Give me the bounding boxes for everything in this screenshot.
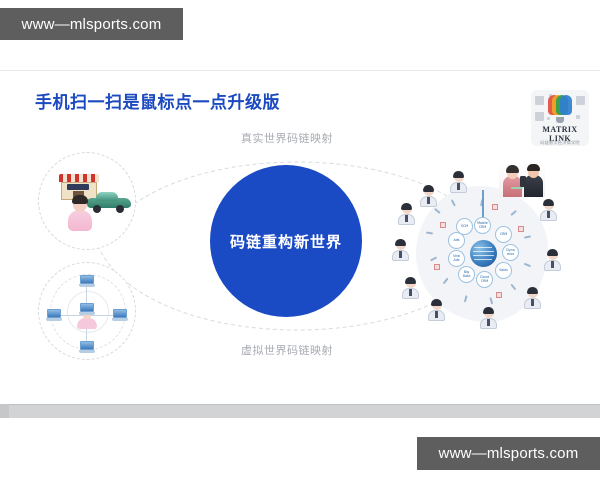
laptop-screen [47,309,61,318]
node-real-world [38,152,136,250]
qr-block-icon [535,96,544,105]
person-body [77,318,97,329]
avatar [480,308,497,329]
person-body [68,210,92,231]
laptop-node-icon [46,309,62,321]
avatar-hair [483,307,494,314]
laptop-node-icon [112,309,128,321]
scan-beam-icon [511,187,523,189]
watermark-top: www—mlsports.com [0,8,183,40]
hub-node: CloudCRM [476,271,493,288]
qr-code-marker-icon [496,292,502,298]
avatar-hair [401,203,412,210]
qr-code-marker-icon [434,264,440,270]
scanning-person-photo [499,163,545,197]
avatar-hair [395,239,406,246]
laptop-node-icon [79,275,95,287]
shop-sign [67,184,89,190]
laptop-screen [80,341,94,350]
hub-node: MobileCRM [474,217,491,234]
slide-top-divider [0,70,600,71]
node-virtual-world [38,262,136,360]
core-circle-label: 码链重构新世界 [230,231,342,252]
avatar-tie [435,311,438,318]
laptop-base [46,318,62,321]
car-wheel [93,205,101,213]
smartphone-icon [520,176,526,187]
hub-node: SCM [456,218,473,235]
label-virtual-world-mapping: 虚拟世界码链映射 [241,342,333,358]
avatar [428,300,445,321]
avatar-hair [527,287,538,294]
avatar-hair [547,249,558,256]
avatar-hair [405,277,416,284]
label-real-world-mapping: 真实世界码链映射 [241,130,333,146]
avatar-tie [547,211,550,218]
avatar [544,250,561,271]
hub-node: Dynamics [502,244,519,261]
hub-node: ViralAds [448,250,465,267]
avatar-tie [405,215,408,222]
laptop-node-icon [79,341,95,353]
avatar-hair [543,199,554,206]
page-title: 手机扫一扫是鼠标点一点升级版 [35,88,280,113]
avatar-tie [551,261,554,268]
brand-subtitle: 码链数字经济商学院 [531,140,589,146]
person-icon [67,197,93,231]
bulb-segment [560,95,572,115]
avatar-tie [487,319,490,326]
slide-bottom-bar-nub [0,404,9,418]
person-hair [506,165,519,173]
lightbulb-icon [548,95,572,123]
laptop-screen [113,309,127,318]
node-digital-network-cluster: MobileCRM CRM Dynamics Sales CloudCRM Bi… [404,180,554,330]
hub-node: BigData [458,266,475,283]
laptop-screen [80,275,94,284]
globe-icon [470,240,497,267]
person-hair [72,195,88,204]
laptop-base [79,312,95,315]
car-wheel [116,205,124,213]
avatar-tie [457,183,460,190]
laptop-base [79,350,95,353]
avatar-tie [409,289,412,296]
hub-node: CRM [495,226,512,243]
qr-code-marker-icon [440,222,446,228]
qr-block-icon [535,112,544,121]
avatar-tie [531,299,534,306]
core-circle: 码链重构新世界 [210,165,362,317]
person-hair [527,164,540,171]
globe-latitude [474,259,492,260]
avatar [524,288,541,309]
avatar [398,204,415,225]
hub-node: Sales [495,262,512,279]
avatar [540,200,557,221]
qr-code-marker-icon [492,204,498,210]
laptop-node-icon [79,303,95,315]
car-cabin [96,192,118,201]
avatar-tie [427,197,430,204]
avatar-hair [453,171,464,178]
globe-latitude [473,251,494,252]
watermark-bottom: www—mlsports.com [417,437,600,470]
qr-dot-icon [576,115,580,119]
avatar [450,172,467,193]
avatar [392,240,409,261]
avatar [420,186,437,207]
qr-block-icon [576,96,585,105]
laptop-screen [80,303,94,312]
laptop-base [79,284,95,287]
hub-graphic: MobileCRM CRM Dynamics Sales CloudCRM Bi… [454,224,512,282]
laptop-base [112,318,128,321]
person-body [524,175,543,197]
slide-bottom-bar [0,404,600,418]
avatar-hair [431,299,442,306]
brand-logo: MATRIX LINK 码链数字经济商学院 [531,90,589,146]
globe-latitude [474,247,492,248]
avatar [402,278,419,299]
avatar-tie [399,251,402,258]
bulb-base-icon [556,117,564,123]
avatar-hair [423,185,434,192]
globe-latitude [473,255,494,256]
car-icon [87,191,131,211]
shop-roof [59,174,99,182]
qr-code-marker-icon [518,226,524,232]
slide-canvas: 手机扫一扫是鼠标点一点升级版 MATRIX LINK 码链数字经济商学院 [0,70,600,418]
